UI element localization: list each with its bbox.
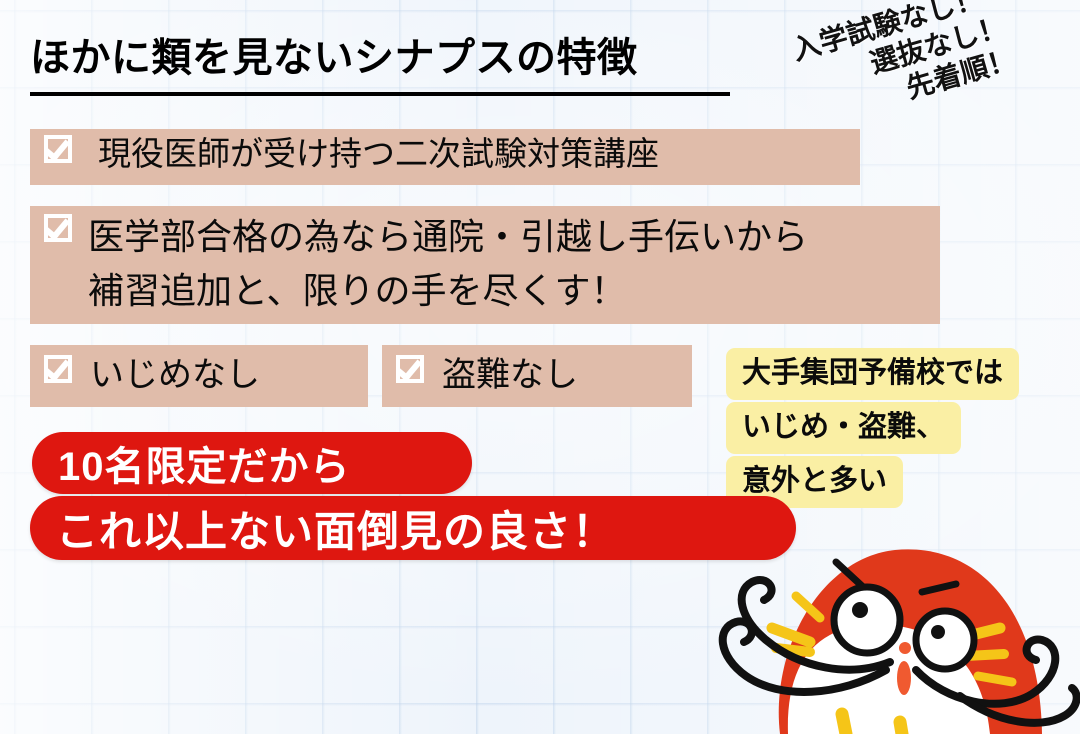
red-banner-2: これ以上ない面倒見の良さ！	[30, 496, 796, 560]
red-banner-1: 10名限定だから	[32, 432, 472, 494]
page-title: ほかに類を見ないシナプスの特徴	[30, 36, 638, 80]
checked-checkbox-icon	[44, 135, 78, 169]
title-underline	[30, 92, 730, 96]
yellow-note-line-1: 大手集団予備校では	[734, 350, 1011, 396]
yellow-highlight-note: 大手集団予備校では いじめ・盗難、 意外と多い	[712, 342, 1050, 520]
feature-row-3b: 盗難なし	[382, 345, 692, 407]
feature-row-3a-label: いじめなし	[78, 353, 260, 397]
feature-row-1-label: 現役医師が受け持つ二次試験対策講座	[78, 132, 659, 176]
feature-row-3a: いじめなし	[30, 345, 368, 407]
feature-row-2-label: 医学部合格の為なら通院・引越し手伝いから 補習追加と、限りの手を尽くす！	[78, 210, 808, 318]
yellow-note-line-2: いじめ・盗難、	[734, 404, 953, 450]
checked-checkbox-icon	[396, 355, 430, 389]
checked-checkbox-icon	[44, 355, 78, 389]
feature-row-3b-label: 盗難なし	[430, 353, 578, 397]
feature-row-1: 現役医師が受け持つ二次試験対策講座	[30, 129, 860, 185]
feature-row-2: 医学部合格の為なら通院・引越し手伝いから 補習追加と、限りの手を尽くす！	[30, 206, 940, 324]
slide-canvas: ほかに類を見ないシナプスの特徴 入学試験なし！ 選抜なし！ 先着順！ 現役医師が…	[0, 0, 1080, 734]
checked-checkbox-icon	[44, 214, 78, 248]
